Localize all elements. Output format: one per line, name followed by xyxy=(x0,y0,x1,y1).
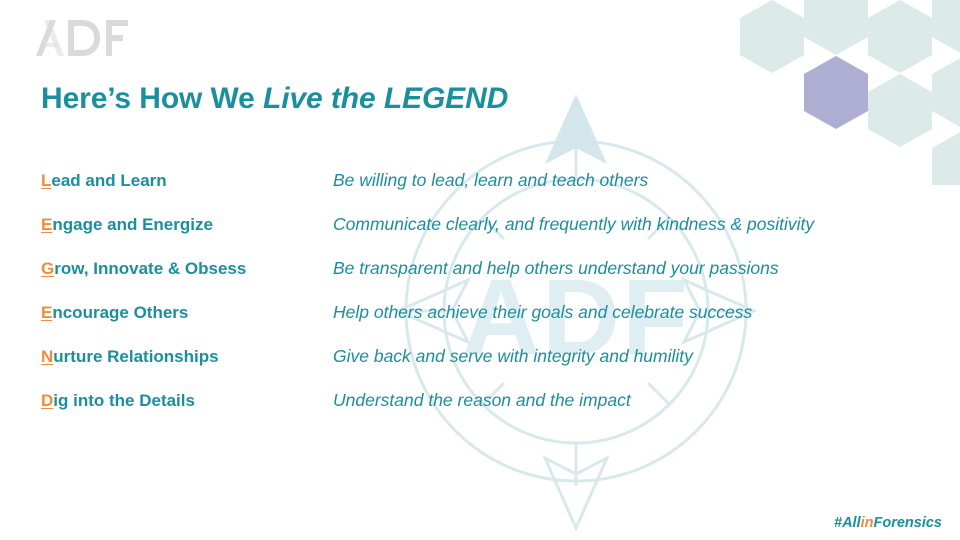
legend-list: Lead and Learn Be willing to lead, learn… xyxy=(41,170,951,434)
legend-term: Encourage Others xyxy=(41,303,333,323)
legend-term-rest: ncourage Others xyxy=(52,303,188,322)
legend-initial: D xyxy=(41,391,53,410)
legend-description: Be transparent and help others understan… xyxy=(333,258,951,279)
hexagon-pale xyxy=(932,0,960,55)
footer-part-all: #All xyxy=(834,515,861,531)
hexagon-pale xyxy=(804,0,868,55)
compass-arrow-north xyxy=(545,94,607,164)
legend-term: Nurture Relationships xyxy=(41,347,333,367)
legend-term-rest: ngage and Energize xyxy=(52,215,213,234)
legend-initial: E xyxy=(41,215,52,234)
compass-arrow-south xyxy=(545,458,607,528)
legend-initial: L xyxy=(41,171,51,190)
logo-letter-a-cross xyxy=(44,43,57,47)
hexagon-decoration xyxy=(700,0,960,185)
hexagon-pale xyxy=(868,74,932,147)
legend-term-rest: ig into the Details xyxy=(53,391,195,410)
legend-description: Be willing to lead, learn and teach othe… xyxy=(333,170,951,191)
legend-description: Help others achieve their goals and cele… xyxy=(333,302,951,323)
legend-term: Lead and Learn xyxy=(41,171,333,191)
legend-description: Communicate clearly, and frequently with… xyxy=(333,214,951,235)
legend-description: Give back and serve with integrity and h… xyxy=(333,346,951,367)
page-title-italic: Live the LEGEND xyxy=(263,82,508,115)
legend-row: Grow, Innovate & Obsess Be transparent a… xyxy=(41,258,951,302)
legend-term: Engage and Energize xyxy=(41,215,333,235)
adf-logo xyxy=(36,18,128,58)
legend-initial: E xyxy=(41,303,52,322)
legend-row: Nurture Relationships Give back and serv… xyxy=(41,346,951,390)
legend-initial: N xyxy=(41,347,53,366)
slide: ADF Here’s How We Live the LEGEND L xyxy=(0,0,960,540)
hexagon-pale xyxy=(868,0,932,73)
legend-term: Dig into the Details xyxy=(41,391,333,411)
hexagon-purple xyxy=(804,56,868,129)
legend-term-rest: ead and Learn xyxy=(51,171,166,190)
legend-row: Dig into the Details Understand the reas… xyxy=(41,390,951,434)
logo-letter-f-mid xyxy=(106,35,123,41)
page-title: Here’s How We Live the LEGEND xyxy=(41,82,508,116)
legend-term: Grow, Innovate & Obsess xyxy=(41,259,333,279)
hexagon-pale xyxy=(932,56,960,129)
legend-initial: G xyxy=(41,259,54,278)
legend-term-rest: row, Innovate & Obsess xyxy=(54,259,246,278)
legend-row: Engage and Energize Communicate clearly,… xyxy=(41,214,951,258)
legend-row: Lead and Learn Be willing to lead, learn… xyxy=(41,170,951,214)
footer-hashtag: #AllinForensics xyxy=(834,515,942,531)
footer-part-in: in xyxy=(861,515,874,531)
legend-description: Understand the reason and the impact xyxy=(333,390,951,411)
page-title-regular: Here’s How We xyxy=(41,82,263,115)
footer-part-forensics: Forensics xyxy=(874,515,943,531)
logo-letter-d xyxy=(68,20,100,56)
legend-term-rest: urture Relationships xyxy=(53,347,218,366)
logo-letter-f-top xyxy=(106,20,128,26)
hexagon-pale xyxy=(740,0,804,73)
legend-row: Encourage Others Help others achieve the… xyxy=(41,302,951,346)
